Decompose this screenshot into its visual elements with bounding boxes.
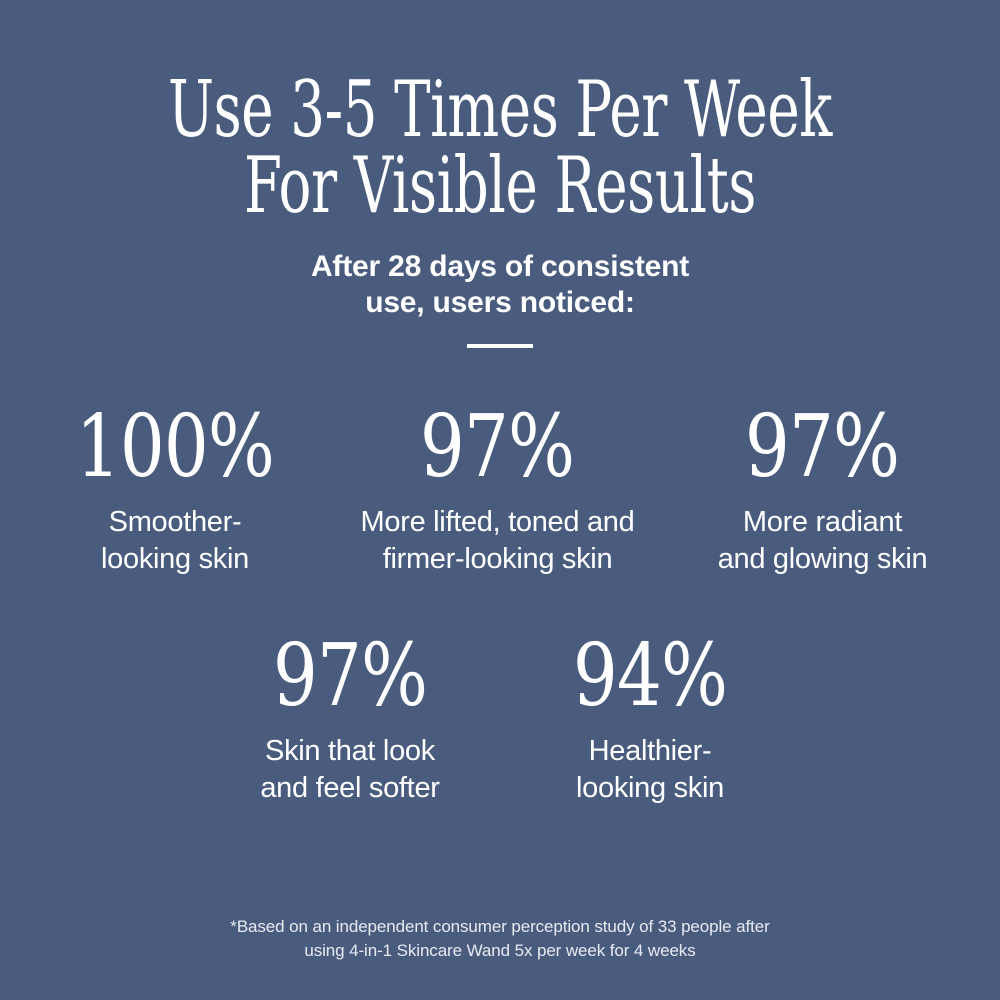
- stat-label-line-1: More radiant: [718, 504, 928, 541]
- footnote-line-2: using 4-in-1 Skincare Wand 5x per week f…: [0, 939, 1000, 964]
- page-subtitle-line-2: use, users noticed:: [220, 285, 780, 322]
- stat-label-line-1: Skin that look: [260, 733, 439, 770]
- stat-item-softer-skin: 97% Skin that look and feel softer: [200, 633, 500, 806]
- stats-row-second: 97% Skin that look and feel softer 94% H…: [0, 633, 1000, 806]
- stat-label-line-2: and glowing skin: [718, 541, 928, 578]
- stat-value: 97%: [745, 404, 899, 490]
- footnote-line-1: *Based on an independent consumer percep…: [0, 915, 1000, 940]
- stat-value: 97%: [420, 404, 574, 490]
- stats-row-first: 100% Smoother- looking skin 97% More lif…: [0, 404, 1000, 577]
- page-subtitle: After 28 days of consistent use, users n…: [220, 249, 780, 322]
- stat-item-smoother-looking-skin: 100% Smoother- looking skin: [25, 404, 325, 577]
- footnote-disclaimer: *Based on an independent consumer percep…: [0, 915, 1000, 964]
- stat-value: 94%: [573, 633, 727, 719]
- marketing-results-poster: Use 3-5 Times Per Week For Visible Resul…: [0, 0, 1000, 1000]
- stat-label-line-1: Healthier-: [576, 733, 724, 770]
- stat-label: More radiant and glowing skin: [718, 504, 928, 577]
- stat-label-line-1: More lifted, toned and: [361, 504, 635, 541]
- stat-item-healthier-looking-skin: 94% Healthier- looking skin: [500, 633, 800, 806]
- stat-item-radiant-glowing: 97% More radiant and glowing skin: [670, 404, 975, 577]
- stat-label: Skin that look and feel softer: [260, 733, 439, 806]
- stat-label-line-2: firmer-looking skin: [361, 541, 635, 578]
- stat-label-line-1: Smoother-: [101, 504, 249, 541]
- stats-section: 100% Smoother- looking skin 97% More lif…: [0, 404, 1000, 806]
- stat-label: Smoother- looking skin: [101, 504, 249, 577]
- stat-label-line-2: looking skin: [101, 541, 249, 578]
- stat-value: 100%: [76, 404, 274, 490]
- stat-label: Healthier- looking skin: [576, 733, 724, 806]
- stat-item-lifted-toned-firmer: 97% More lifted, toned and firmer-lookin…: [325, 404, 670, 577]
- stat-label-line-2: and feel softer: [260, 770, 439, 807]
- page-title-line-2: For Visible Results: [150, 148, 850, 224]
- page-title-line-1: Use 3-5 Times Per Week: [150, 72, 850, 148]
- stat-label-line-2: looking skin: [576, 770, 724, 807]
- page-title: Use 3-5 Times Per Week For Visible Resul…: [150, 72, 850, 225]
- page-subtitle-line-1: After 28 days of consistent: [220, 249, 780, 286]
- stat-value: 97%: [273, 633, 427, 719]
- section-divider: [467, 344, 533, 348]
- stat-label: More lifted, toned and firmer-looking sk…: [361, 504, 635, 577]
